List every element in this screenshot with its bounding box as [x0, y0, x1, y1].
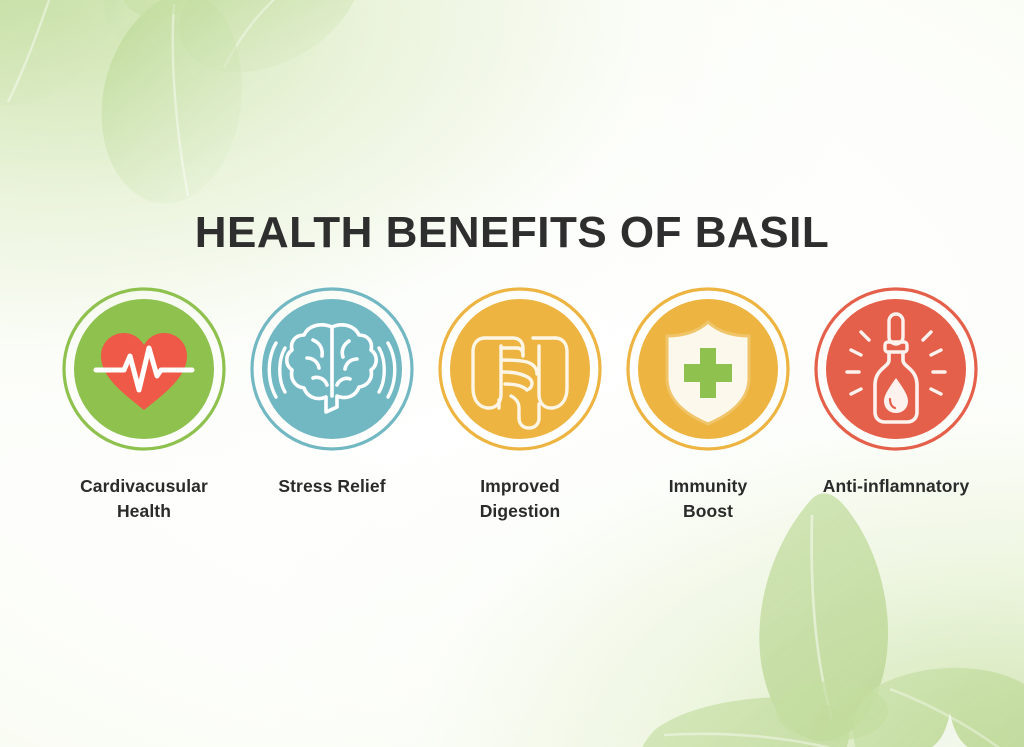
- benefit-item-cardiovascular[interactable]: Cardivacusular Health: [50, 286, 238, 524]
- benefit-item-stress-relief[interactable]: Stress Relief: [238, 286, 426, 499]
- benefit-label-immunity-boost: Immunity Boost: [669, 474, 748, 524]
- brain-waves-icon[interactable]: [249, 286, 415, 452]
- benefit-item-anti-inflammatory[interactable]: Anti-inflamnatory: [802, 286, 990, 499]
- page-title: HEALTH BENEFITS OF BASIL: [0, 208, 1024, 258]
- benefit-label-improved-digestion: Improved Digestion: [480, 474, 561, 524]
- heart-pulse-icon[interactable]: [61, 286, 227, 452]
- shield-cross-icon[interactable]: [625, 286, 791, 452]
- benefits-row: Cardivacusular Health: [50, 286, 990, 524]
- benefit-item-immunity-boost[interactable]: Immunity Boost: [614, 286, 802, 524]
- intestines-icon[interactable]: [437, 286, 603, 452]
- benefit-label-cardiovascular: Cardivacusular Health: [80, 474, 208, 524]
- dropper-bottle-icon[interactable]: [813, 286, 979, 452]
- infographic-canvas: HEALTH BENEFITS OF BASIL Cardivacusular …: [0, 0, 1024, 747]
- benefit-label-anti-inflammatory: Anti-inflamnatory: [823, 474, 970, 499]
- sparkle-icon: [908, 713, 992, 747]
- benefit-item-improved-digestion[interactable]: Improved Digestion: [426, 286, 614, 524]
- benefit-label-stress-relief: Stress Relief: [278, 474, 385, 499]
